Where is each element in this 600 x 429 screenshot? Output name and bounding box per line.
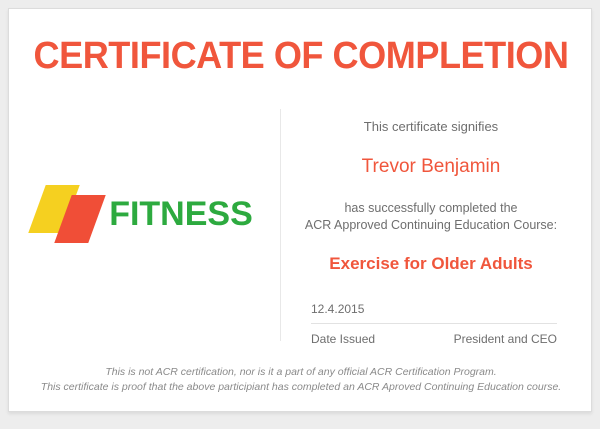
fitness-logo-icon: [37, 185, 103, 243]
signature-labels: Date Issued President and CEO: [311, 332, 557, 346]
completion-line-1: has successfully completed the: [295, 200, 567, 217]
certificate-card: CERTIFICATE OF COMPLETION FITNESS This c…: [8, 8, 592, 412]
course-name: Exercise for Older Adults: [295, 254, 567, 274]
disclaimer-line-1: This is not ACR certification, nor is it…: [9, 365, 593, 380]
president-ceo-label: President and CEO: [454, 332, 557, 346]
date-issued-label: Date Issued: [311, 332, 375, 346]
logo-panel: FITNESS: [9, 159, 281, 269]
completion-line-2: ACR Approved Continuing Education Course…: [295, 217, 567, 234]
details-panel: This certificate signifies Trevor Benjam…: [295, 109, 567, 346]
page-title: CERTIFICATE OF COMPLETION: [24, 35, 579, 78]
vertical-divider: [280, 109, 281, 341]
issue-date-value: 12.4.2015: [295, 302, 567, 316]
completion-text: has successfully completed the ACR Appro…: [295, 200, 567, 234]
signature-rule: [311, 323, 557, 324]
disclaimer-line-2: This certificate is proof that the above…: [9, 380, 593, 395]
recipient-name: Trevor Benjamin: [295, 156, 567, 178]
footer-disclaimer: This is not ACR certification, nor is it…: [9, 365, 593, 395]
logo-wordmark: FITNESS: [109, 197, 253, 231]
signifies-text: This certificate signifies: [295, 119, 567, 134]
